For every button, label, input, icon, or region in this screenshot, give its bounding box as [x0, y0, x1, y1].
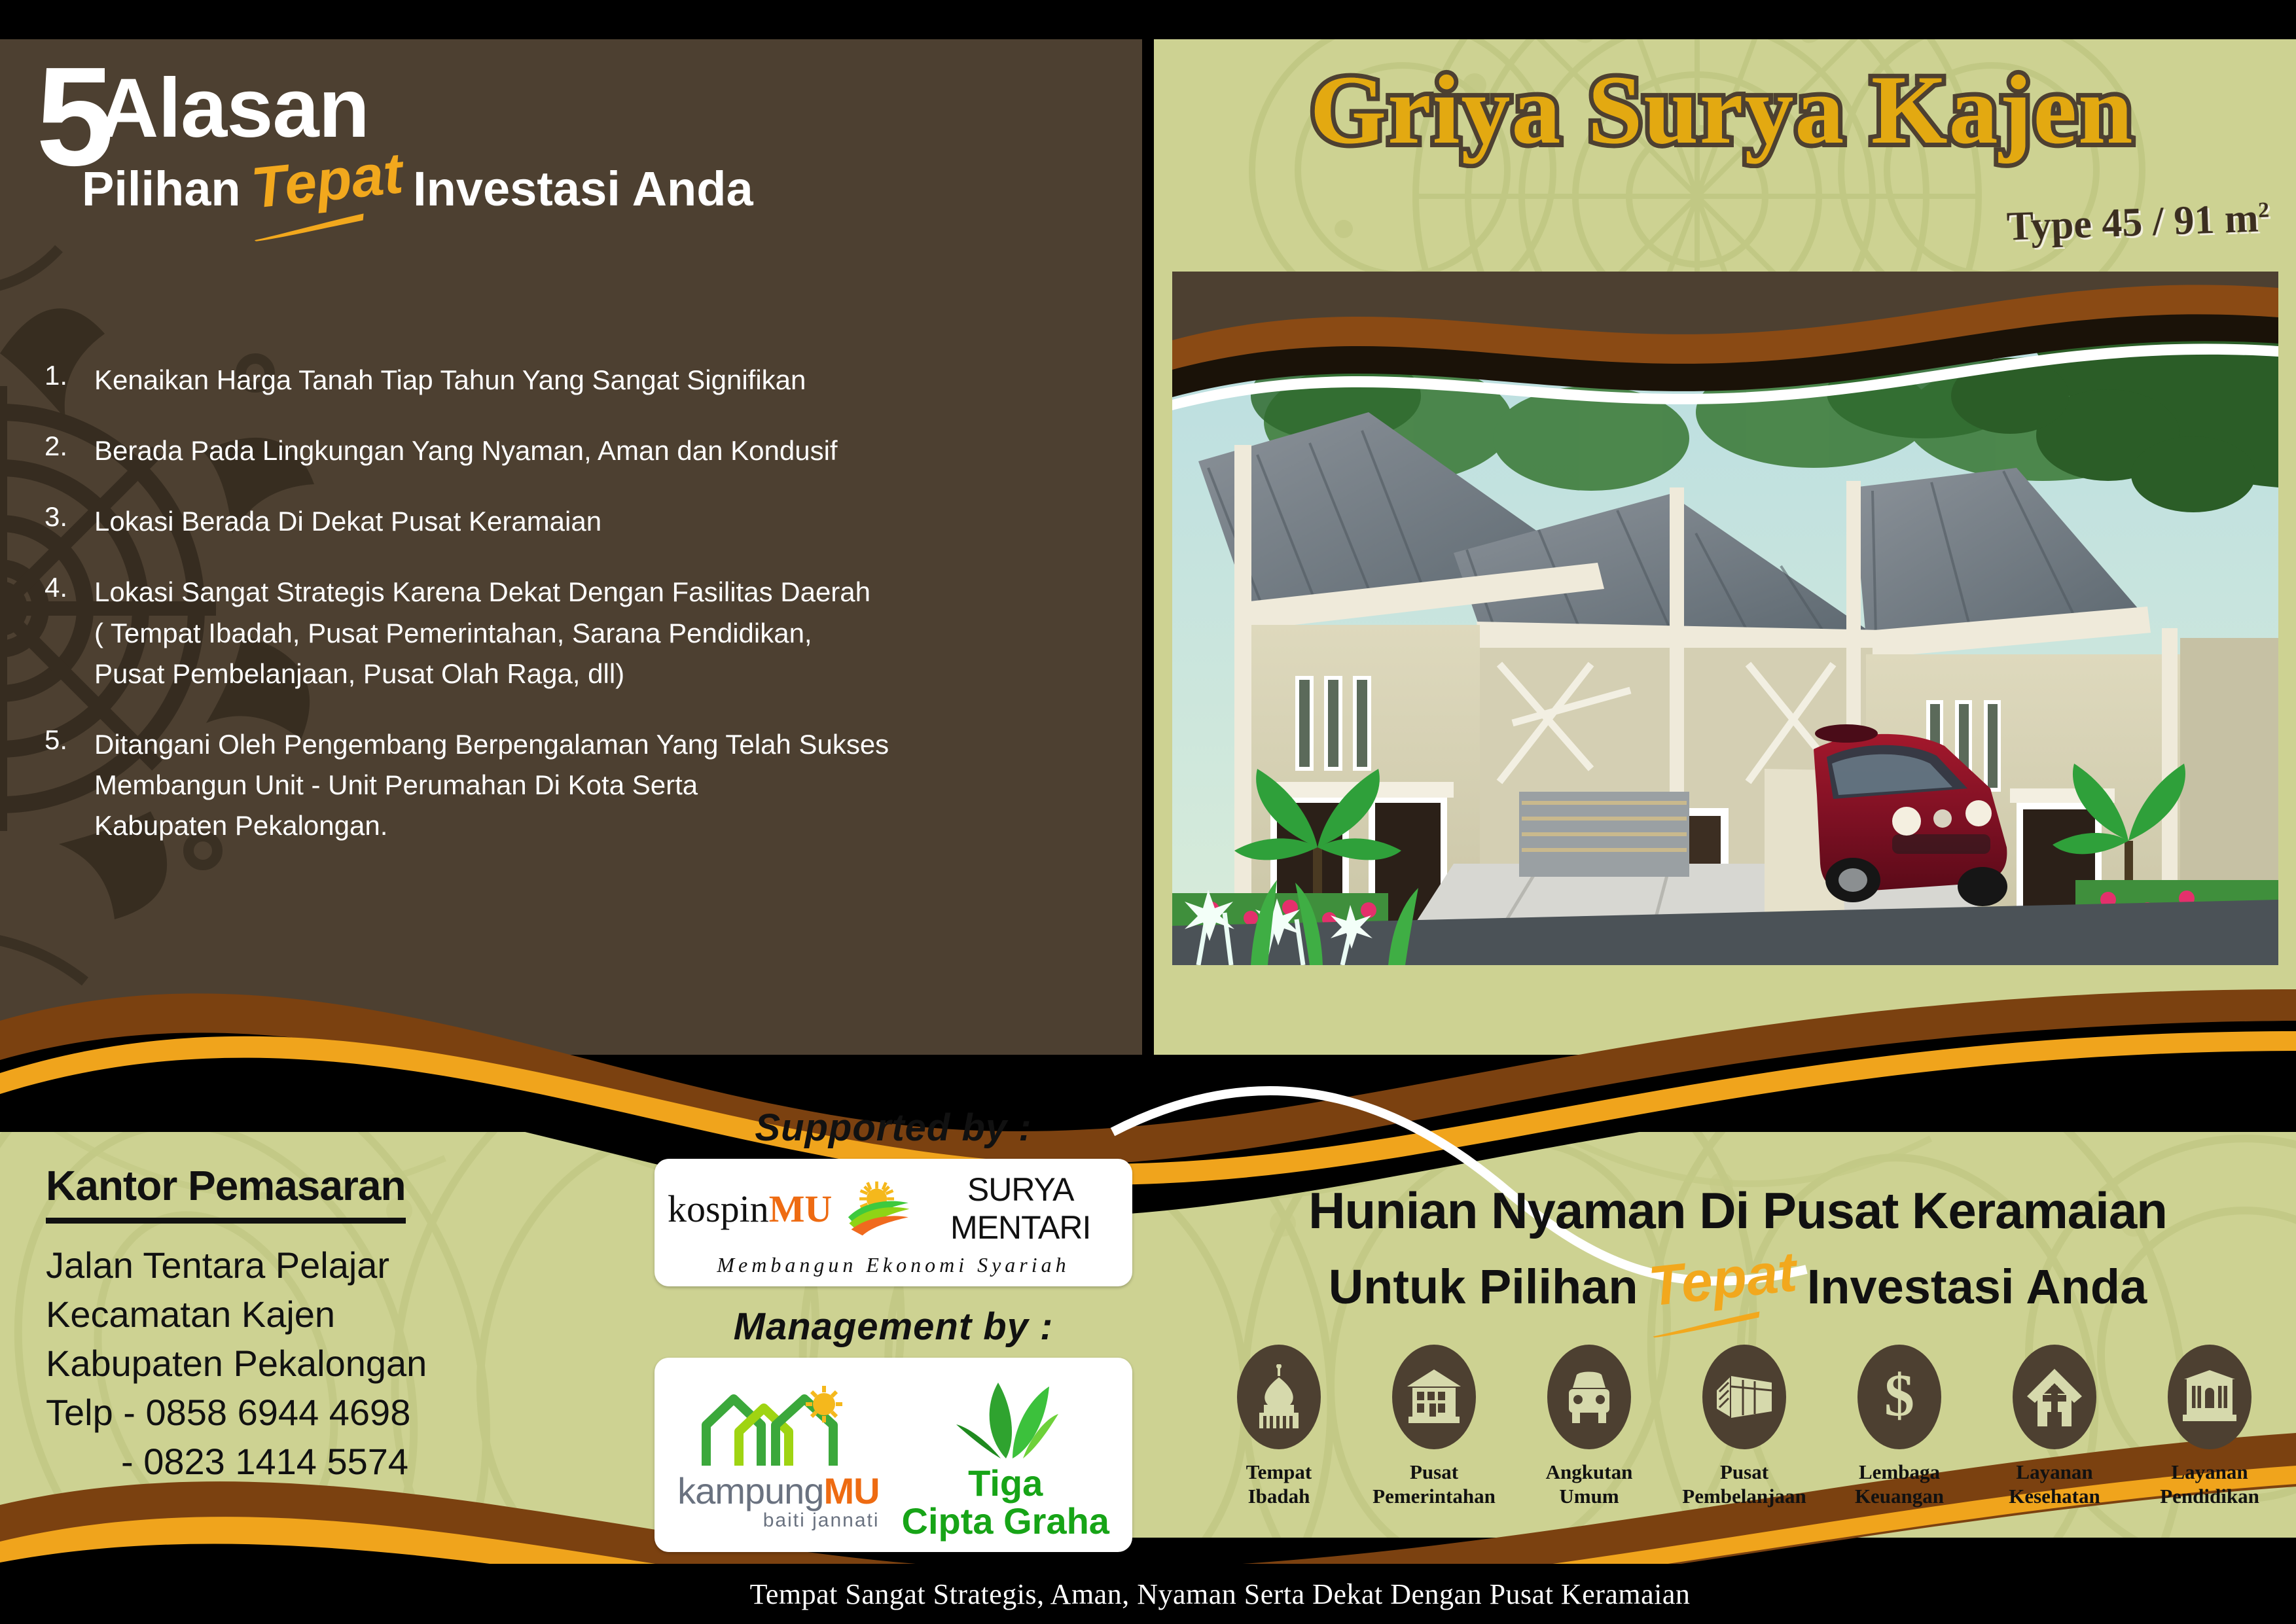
facility-line1: Lembaga — [1828, 1460, 1971, 1484]
mu-text-2: MU — [823, 1470, 879, 1511]
house-render-illustration — [1172, 272, 2278, 965]
facility-bubble — [1392, 1345, 1476, 1449]
facility-line2: Umum — [1518, 1484, 1660, 1508]
footer-text: Tempat Sangat Strategis, Aman, Nyaman Se… — [750, 1578, 1691, 1611]
reason-text: Kenaikan Harga Tanah Tiap Tahun Yang San… — [94, 360, 806, 400]
brand-title: Griya Surya Kajen — [1166, 54, 2278, 166]
facility-bubble — [1237, 1345, 1321, 1449]
sun-swoosh-icon — [841, 1173, 912, 1244]
facility-line1: Layanan — [2138, 1460, 2281, 1484]
headline-tepat: Tepat — [248, 139, 406, 222]
reason-text: Ditangani Oleh Pengembang Berpengalaman … — [94, 724, 889, 846]
top-black-bar — [0, 0, 2296, 39]
reason-item: 1. Kenaikan Harga Tanah Tiap Tahun Yang … — [45, 360, 1105, 400]
reason-line: Kenaikan Harga Tanah Tiap Tahun Yang San… — [94, 360, 806, 400]
facility-bubble — [1547, 1345, 1631, 1449]
reason-text: Lokasi Sangat Strategis Karena Dekat Den… — [94, 572, 870, 694]
car-icon — [1561, 1368, 1617, 1426]
reason-number: 3. — [45, 501, 94, 542]
headline-block: 5 Alasan Pilihan Tepat Investasi Anda — [0, 39, 1142, 281]
facility-caption: Lembaga Keuangan — [1828, 1460, 1971, 1508]
reason-text: Lokasi Berada Di Dekat Pusat Keramaian — [94, 501, 601, 542]
reason-line: Lokasi Berada Di Dekat Pusat Keramaian — [94, 501, 601, 542]
phone-secondary[interactable]: - 0823 1414 5574 — [46, 1437, 687, 1486]
facility-bubble — [2013, 1345, 2096, 1449]
brochure-page: 5 Alasan Pilihan Tepat Investasi Anda 1.… — [0, 0, 2296, 1624]
government-icon — [1405, 1367, 1463, 1427]
office-address: Jalan Tentara Pelajar Kecamatan Kajen Ka… — [46, 1241, 687, 1486]
management-logo-row: kampungMU baiti jannati Tiga — [668, 1369, 1119, 1543]
houses-sun-icon — [693, 1385, 863, 1470]
property-photo — [1172, 272, 2278, 965]
tiga-line1: Tiga — [902, 1464, 1109, 1502]
reason-line: Kabupaten Pekalongan. — [94, 805, 889, 846]
facility-line1: Pusat — [1363, 1460, 1505, 1484]
reason-number: 2. — [45, 431, 94, 471]
facility-item: Pusat Pembelanjaan — [1673, 1345, 1816, 1508]
facility-item: $ Lembaga Keuangan — [1828, 1345, 1971, 1508]
mu-text: MU — [769, 1188, 833, 1230]
facility-caption: Angkutan Umum — [1518, 1460, 1660, 1508]
tiga-line2: Cipta Graha — [902, 1502, 1109, 1540]
reason-number: 4. — [45, 572, 94, 694]
reason-item: 2. Berada Pada Lingkungan Yang Nyaman, A… — [45, 431, 1105, 471]
tiga-cipta-graha-wordmark: Tiga Cipta Graha — [902, 1464, 1109, 1540]
facility-bubble — [2168, 1345, 2251, 1449]
tagline-tepat-text: Tepat — [1645, 1240, 1799, 1318]
reason-line: Ditangani Oleh Pengembang Berpengalaman … — [94, 724, 889, 765]
tagline-line2: Untuk Pilihan Tepat Investasi Anda — [1208, 1247, 2268, 1315]
kampungmu-subtitle: baiti jannati — [677, 1509, 879, 1532]
kospin-tagline: Membangun Ekonomi Syariah — [668, 1253, 1119, 1277]
mall-icon — [1714, 1371, 1774, 1423]
partners-column: Supported by : kospinMU — [655, 1106, 1132, 1552]
reason-line: Membangun Unit - Unit Perumahan Di Kota … — [94, 765, 889, 805]
facility-bubble — [1702, 1345, 1786, 1449]
reason-line: Pusat Pembelanjaan, Pusat Olah Raga, dll… — [94, 654, 870, 694]
dollar-icon: $ — [1880, 1364, 1919, 1430]
facility-line2: Pemerintahan — [1363, 1484, 1505, 1508]
kampung-text: kampung — [677, 1470, 823, 1511]
left-panel: 5 Alasan Pilihan Tepat Investasi Anda 1.… — [0, 39, 1142, 1086]
facility-caption: Pusat Pembelanjaan — [1673, 1460, 1816, 1508]
facility-item: Layanan Kesehatan — [1983, 1345, 2126, 1508]
headline-tepat-text: Tepat — [248, 140, 406, 221]
address-line: Kecamatan Kajen — [46, 1290, 687, 1339]
reason-line: Berada Pada Lingkungan Yang Nyaman, Aman… — [94, 431, 838, 471]
tagline-line1: Hunian Nyaman Di Pusat Keramaian — [1208, 1181, 2268, 1241]
school-icon — [2180, 1369, 2239, 1425]
promo-tagline: Hunian Nyaman Di Pusat Keramaian Untuk P… — [1208, 1181, 2268, 1315]
facility-line2: Keuangan — [1828, 1484, 1971, 1508]
facility-caption: Pusat Pemerintahan — [1363, 1460, 1505, 1508]
kospinmu-logo-row: kospinMU SURYA MENTA — [668, 1171, 1119, 1246]
address-line: Kabupaten Pekalongan — [46, 1339, 687, 1388]
facility-line2: Pembelanjaan — [1673, 1484, 1816, 1508]
hospital-icon — [2026, 1366, 2083, 1428]
tagline-investasi: Investasi Anda — [1807, 1259, 2147, 1315]
reason-text: Berada Pada Lingkungan Yang Nyaman, Aman… — [94, 431, 838, 471]
tagline-tepat: Tepat — [1645, 1239, 1799, 1319]
headline-alasan: Alasan — [98, 60, 369, 156]
kampungmu-wordmark: kampungMU — [677, 1473, 879, 1509]
tiga-cipta-graha-logo: Tiga Cipta Graha — [902, 1376, 1109, 1540]
facility-line1: Angkutan — [1518, 1460, 1660, 1484]
right-panel: Griya Surya Kajen Griya Surya Kajen Type… — [1154, 39, 2296, 1109]
facility-bubble: $ — [1857, 1345, 1941, 1449]
headline-investasi: Investasi Anda — [413, 161, 753, 217]
facility-item: Layanan Pendidikan — [2138, 1345, 2281, 1508]
phone-primary[interactable]: Telp - 0858 6944 4698 — [46, 1388, 687, 1437]
leaves-icon — [950, 1376, 1061, 1461]
facility-line1: Layanan — [1983, 1460, 2126, 1484]
facility-caption: Layanan Kesehatan — [1983, 1460, 2126, 1508]
footer-bar: Tempat Sangat Strategis, Aman, Nyaman Se… — [0, 1564, 2296, 1624]
type-label: Type 45 / 91 m — [2006, 196, 2259, 249]
kospinmu-wordmark: kospinMU — [668, 1187, 832, 1231]
reason-item: 4. Lokasi Sangat Strategis Karena Dekat … — [45, 572, 1105, 694]
tagline-untuk-pilihan: Untuk Pilihan — [1329, 1259, 1638, 1315]
reasons-list: 1. Kenaikan Harga Tanah Tiap Tahun Yang … — [45, 360, 1105, 876]
type-badge: Type 45 / 91 m2 — [2006, 195, 2270, 251]
facility-item: Pusat Pemerintahan — [1363, 1345, 1505, 1508]
facility-line1: Pusat — [1673, 1460, 1816, 1484]
headline-subline: Pilihan Tepat Investasi Anda — [82, 147, 753, 217]
facility-item: Tempat Ibadah — [1208, 1345, 1350, 1508]
headline-pilihan: Pilihan — [82, 161, 241, 217]
reason-line: Lokasi Sangat Strategis Karena Dekat Den… — [94, 572, 870, 612]
facility-line2: Kesehatan — [1983, 1484, 2126, 1508]
facility-caption: Tempat Ibadah — [1208, 1460, 1350, 1508]
supported-by-label: Supported by : — [655, 1106, 1132, 1150]
facility-line1: Tempat — [1208, 1460, 1350, 1484]
mosque-icon — [1251, 1364, 1307, 1430]
svg-text:$: $ — [1884, 1364, 1914, 1428]
type-superscript: 2 — [2258, 198, 2270, 222]
management-logo-card: kampungMU baiti jannati Tiga — [655, 1358, 1132, 1552]
reason-number: 1. — [45, 360, 94, 400]
facility-line2: Ibadah — [1208, 1484, 1350, 1508]
management-by-label: Management by : — [655, 1305, 1132, 1349]
facility-item: Angkutan Umum — [1518, 1345, 1660, 1508]
address-line: Jalan Tentara Pelajar — [46, 1241, 687, 1290]
kampungmu-logo: kampungMU baiti jannati — [677, 1385, 879, 1532]
facility-caption: Layanan Pendidikan — [2138, 1460, 2281, 1508]
facility-line2: Pendidikan — [2138, 1484, 2281, 1508]
reason-item: 3. Lokasi Berada Di Dekat Pusat Keramaia… — [45, 501, 1105, 542]
reason-item: 5. Ditangani Oleh Pengembang Berpengalam… — [45, 724, 1105, 846]
office-heading: Kantor Pemasaran — [46, 1161, 406, 1224]
kospinmu-logo-card: kospinMU SURYA MENTA — [655, 1159, 1132, 1286]
office-info: Kantor Pemasaran Jalan Tentara Pelajar K… — [46, 1161, 687, 1486]
reason-number: 5. — [45, 724, 94, 846]
facilities-row: Tempat Ibadah — [1208, 1345, 2281, 1508]
kospin-text: kospin — [668, 1188, 769, 1230]
surya-mentari-wordmark: SURYA MENTARI — [922, 1171, 1119, 1246]
reason-line: ( Tempat Ibadah, Pusat Pemerintahan, Sar… — [94, 613, 870, 654]
